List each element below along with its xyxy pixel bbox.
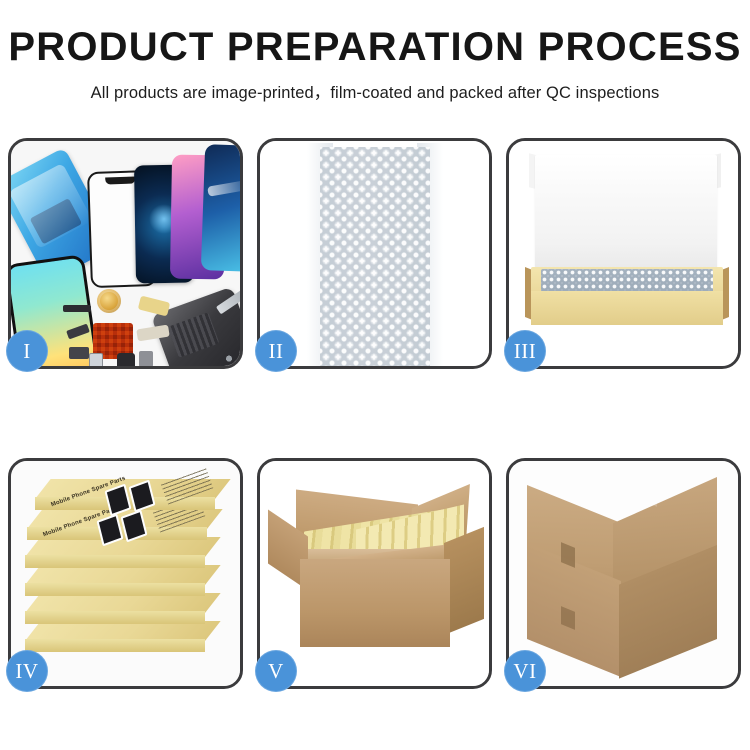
step-badge-5: V (255, 650, 297, 692)
camera-module-icon (117, 353, 135, 366)
box-top-face (25, 565, 221, 585)
white-box-lid-icon (535, 155, 717, 281)
process-step-panel-4: Mobile Phone Spare Parts Mobile Phone Sp… (8, 458, 243, 689)
yellow-box-stack: Mobile Phone Spare Parts Mobile Phone Sp… (15, 473, 239, 679)
step-6-image (509, 461, 738, 686)
process-step-panel-3: III (506, 138, 741, 369)
carton-side-face (444, 527, 484, 635)
small-chip-icon (139, 351, 153, 366)
box-top-face (25, 537, 221, 557)
box-top-face (25, 621, 221, 641)
header: PRODUCT PREPARATION PROCESS All products… (0, 0, 750, 103)
step-5-image (260, 461, 489, 686)
page-subtitle: All products are image-printed，film-coat… (0, 79, 750, 103)
product-preparation-infographic: PRODUCT PREPARATION PROCESS All products… (0, 0, 750, 750)
step-2-image (260, 141, 489, 366)
flex-connector-a-icon (138, 296, 170, 317)
process-step-grid: I II III (8, 138, 742, 689)
yellow-box-front-face (531, 291, 723, 325)
stacked-box (25, 565, 215, 595)
stacked-box (25, 593, 215, 623)
step-badge-3: III (504, 330, 546, 372)
battery-cell-icon (89, 353, 103, 366)
step-4-image: Mobile Phone Spare Parts Mobile Phone Sp… (11, 461, 240, 686)
step-1-image (11, 141, 240, 366)
process-step-panel-1: I (8, 138, 243, 369)
carton-front-face (300, 559, 450, 647)
stacked-box (25, 621, 215, 651)
step-3-image (509, 141, 738, 366)
box-front-face (25, 583, 205, 596)
bubble-wrap-icon (320, 147, 430, 366)
speaker-coil-icon (97, 289, 121, 313)
step-badge-6: VI (504, 650, 546, 692)
box-front-face (25, 639, 205, 652)
flex-cable-bar-icon (63, 305, 91, 312)
process-step-panel-2: II (257, 138, 492, 369)
step-badge-1: I (6, 330, 48, 372)
connector-block-icon (69, 347, 89, 359)
step-badge-4: IV (6, 650, 48, 692)
phone-blue-screen-icon (201, 144, 240, 272)
stacked-box (25, 537, 215, 567)
box-top-face (25, 593, 221, 613)
process-step-panel-5: V (257, 458, 492, 689)
process-step-panel-6: VI (506, 458, 741, 689)
carton-top-seam (569, 463, 657, 507)
step-badge-2: II (255, 330, 297, 372)
box-front-face (25, 555, 205, 568)
box-front-face (25, 611, 205, 624)
page-title: PRODUCT PREPARATION PROCESS (0, 26, 750, 68)
screws-icon (225, 353, 240, 366)
